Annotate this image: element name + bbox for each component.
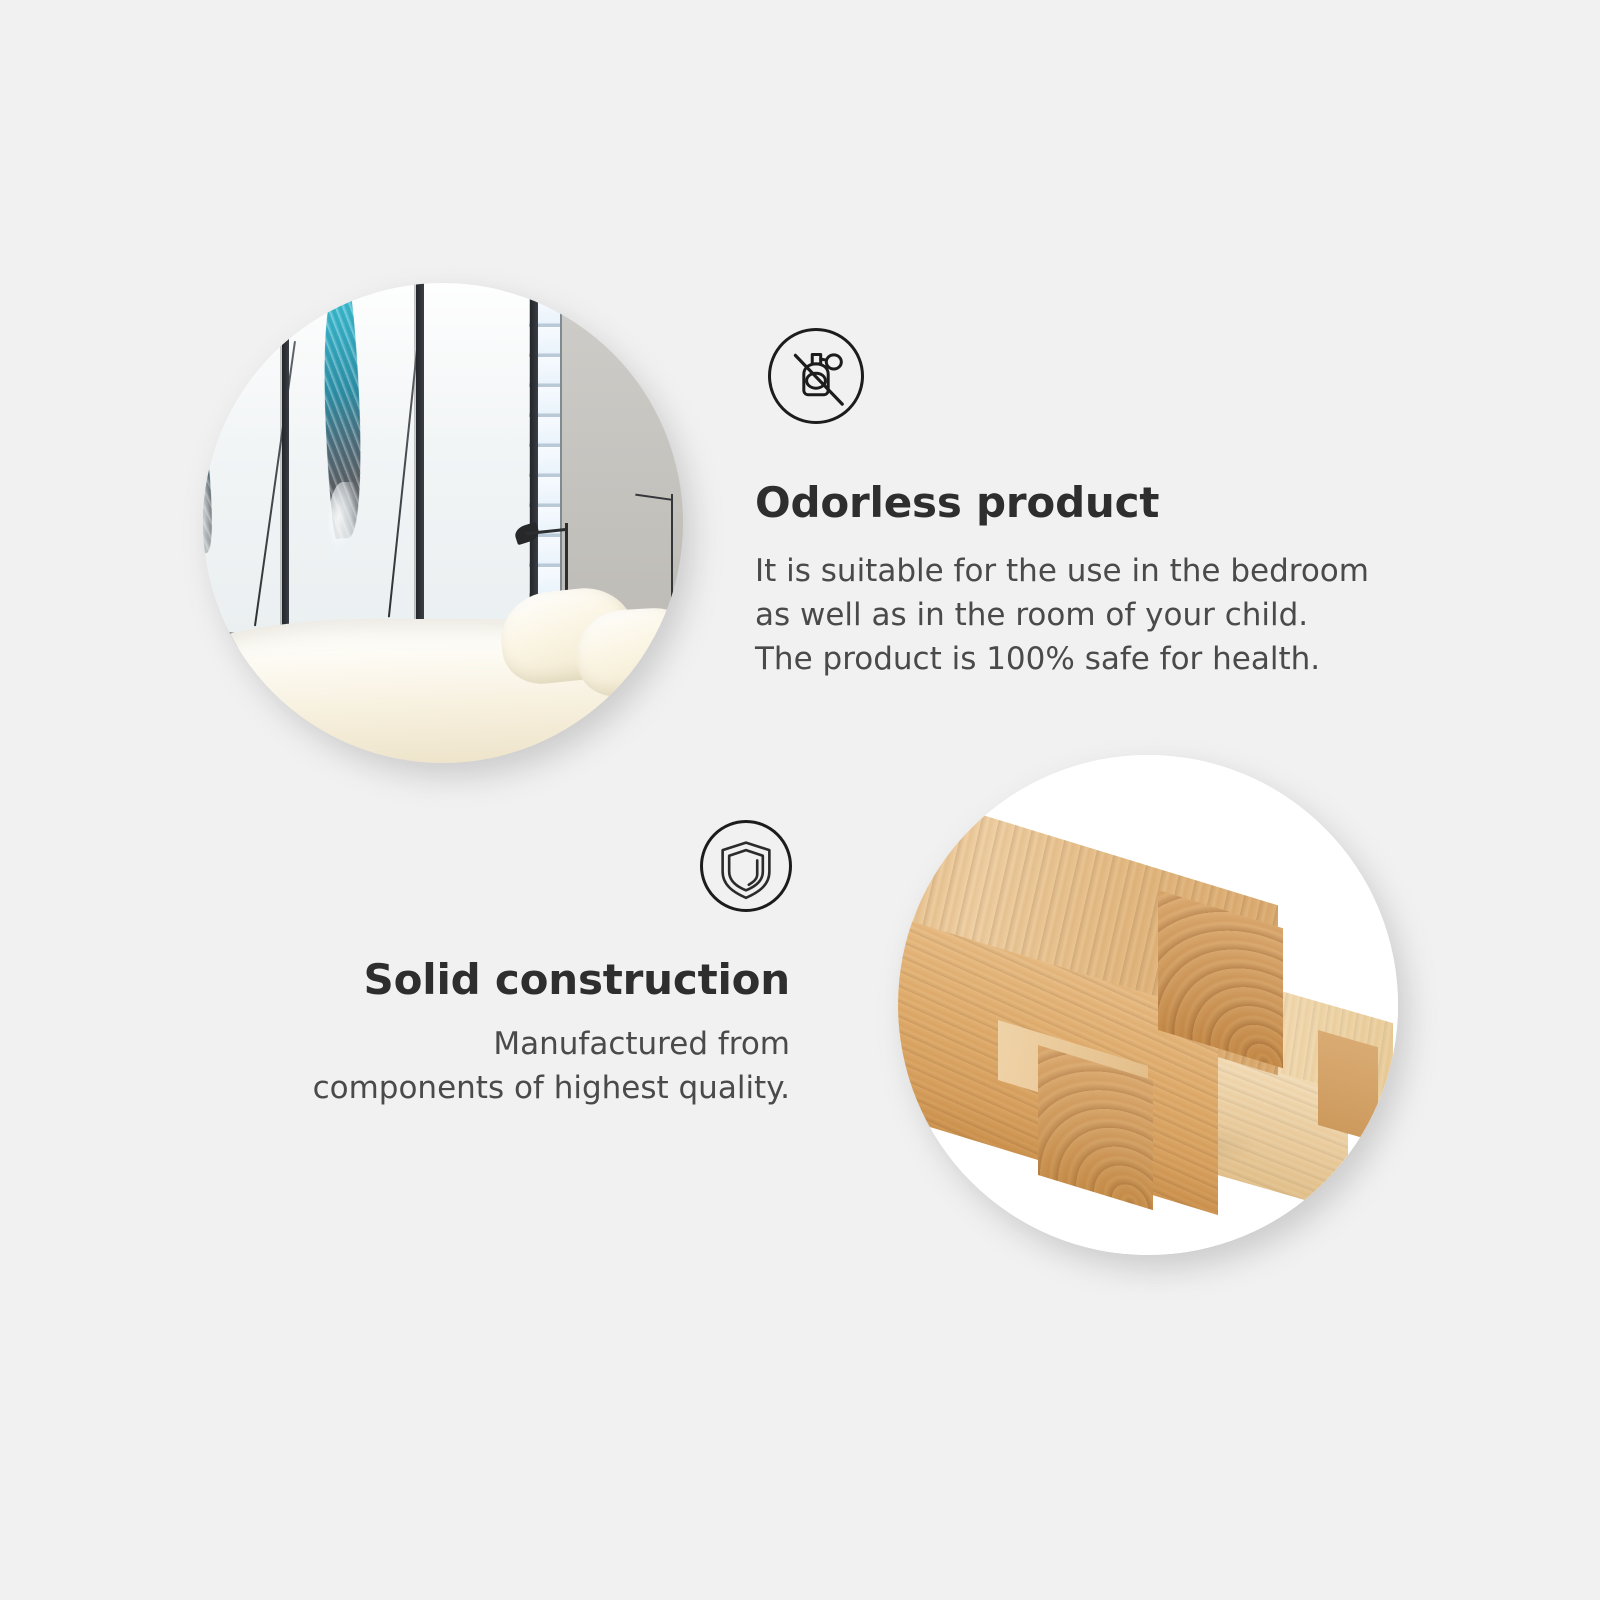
wooden-blocks-photo: [898, 755, 1398, 1255]
shield-icon: [700, 820, 792, 912]
panel-divider-2: [416, 283, 424, 667]
canvas-panel-2: [289, 283, 414, 667]
bedroom-scene: [203, 283, 683, 763]
feature-title-odorless: Odorless product: [755, 478, 1455, 527]
wood-scene: [898, 755, 1398, 1255]
feature-title-solid: Solid construction: [90, 955, 790, 1004]
feature-body-odorless: It is suitable for the use in the bedroo…: [755, 549, 1455, 681]
feather-down-2: [328, 482, 358, 571]
shield-glyph: [703, 823, 789, 909]
feature-odorless-product: Odorless product It is suitable for the …: [755, 328, 1455, 681]
no-fragrance-icon: [768, 328, 864, 424]
wall-lamp-pole: [671, 494, 673, 619]
duvet-crease-1: [232, 761, 414, 763]
feather-down-1: [203, 473, 212, 570]
feature-body-solid: Manufactured from components of highest …: [90, 1022, 790, 1110]
infographic-canvas: Odorless product It is suitable for the …: [0, 0, 1600, 1600]
feature-solid-construction: Solid construction Manufactured from com…: [90, 820, 790, 1110]
canvas-panel-1: [203, 283, 280, 667]
bedroom-feather-canvas-photo: [203, 283, 683, 763]
panel-divider-1: [282, 283, 290, 667]
pale-plank-end-face: [1318, 1030, 1378, 1142]
no-fragrance-glyph: [771, 331, 861, 421]
